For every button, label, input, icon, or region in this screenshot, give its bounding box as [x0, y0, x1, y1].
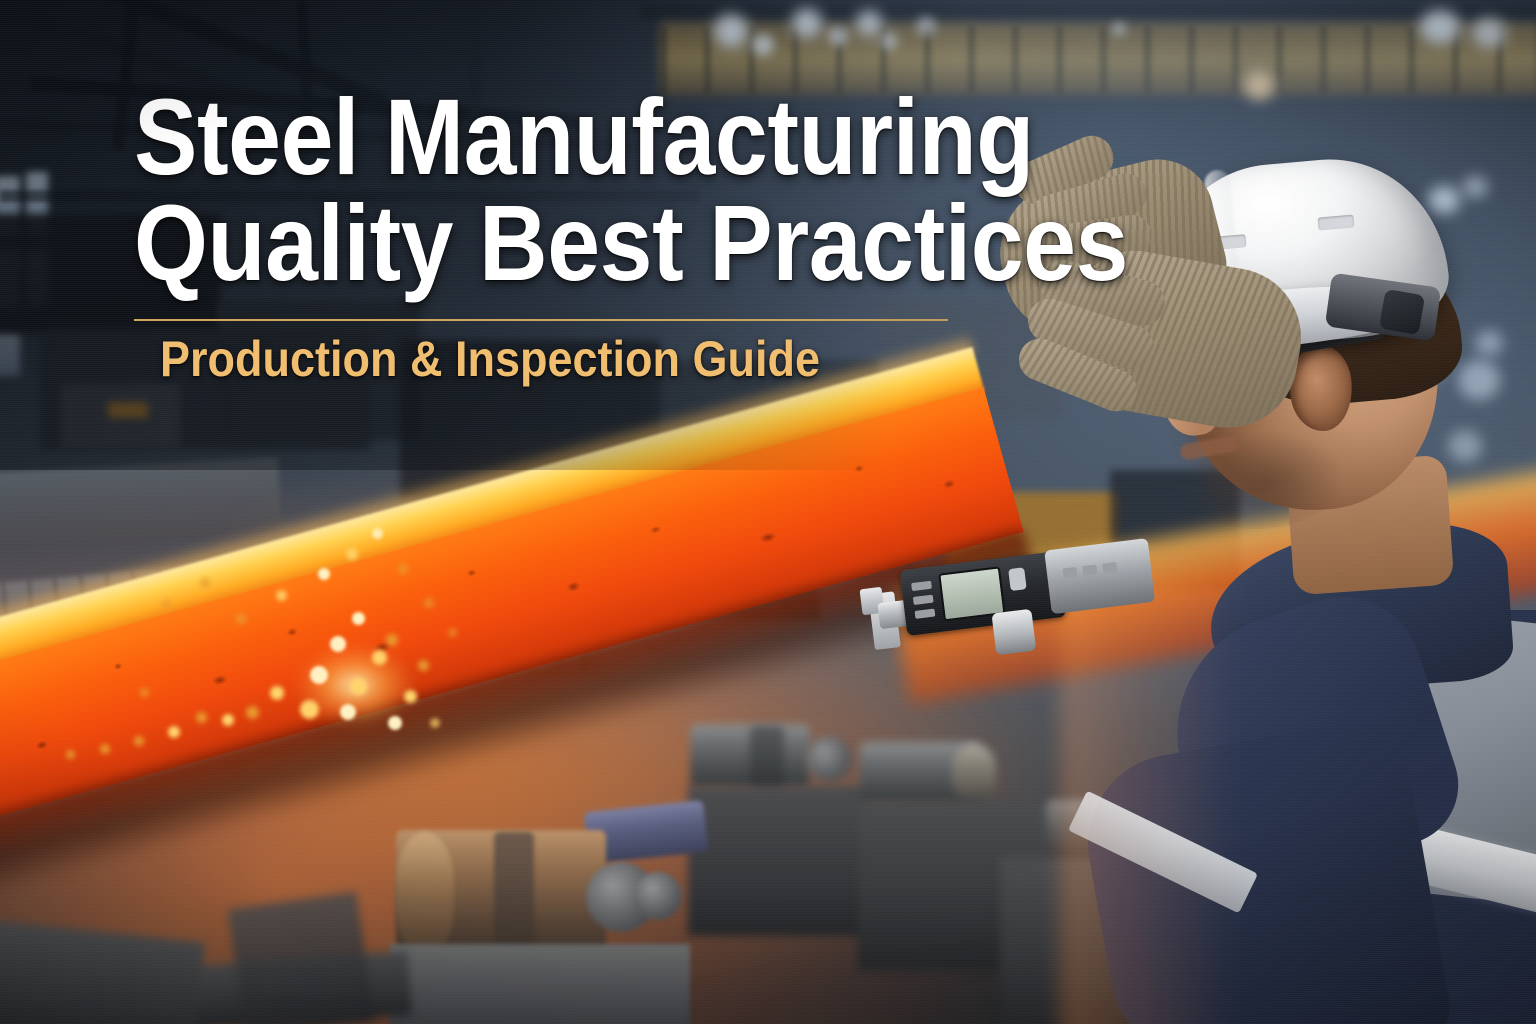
page-subtitle: Production & Inspection Guide	[160, 334, 820, 384]
title-divider-rule	[134, 319, 948, 321]
worker-forearm	[1074, 714, 1456, 1024]
poster-headline: Steel Manufacturing Quality Best Practic…	[134, 84, 1034, 296]
hard-hat-ratchet	[1379, 289, 1425, 335]
caliper-thumb-wheel	[991, 609, 1036, 656]
poster-canvas: Steel Manufacturing Quality Best Practic…	[0, 0, 1536, 1024]
caliper-slider	[1044, 538, 1155, 614]
page-title-line-2: Quality Best Practices	[134, 190, 926, 296]
page-title-line-1: Steel Manufacturing	[134, 84, 926, 190]
